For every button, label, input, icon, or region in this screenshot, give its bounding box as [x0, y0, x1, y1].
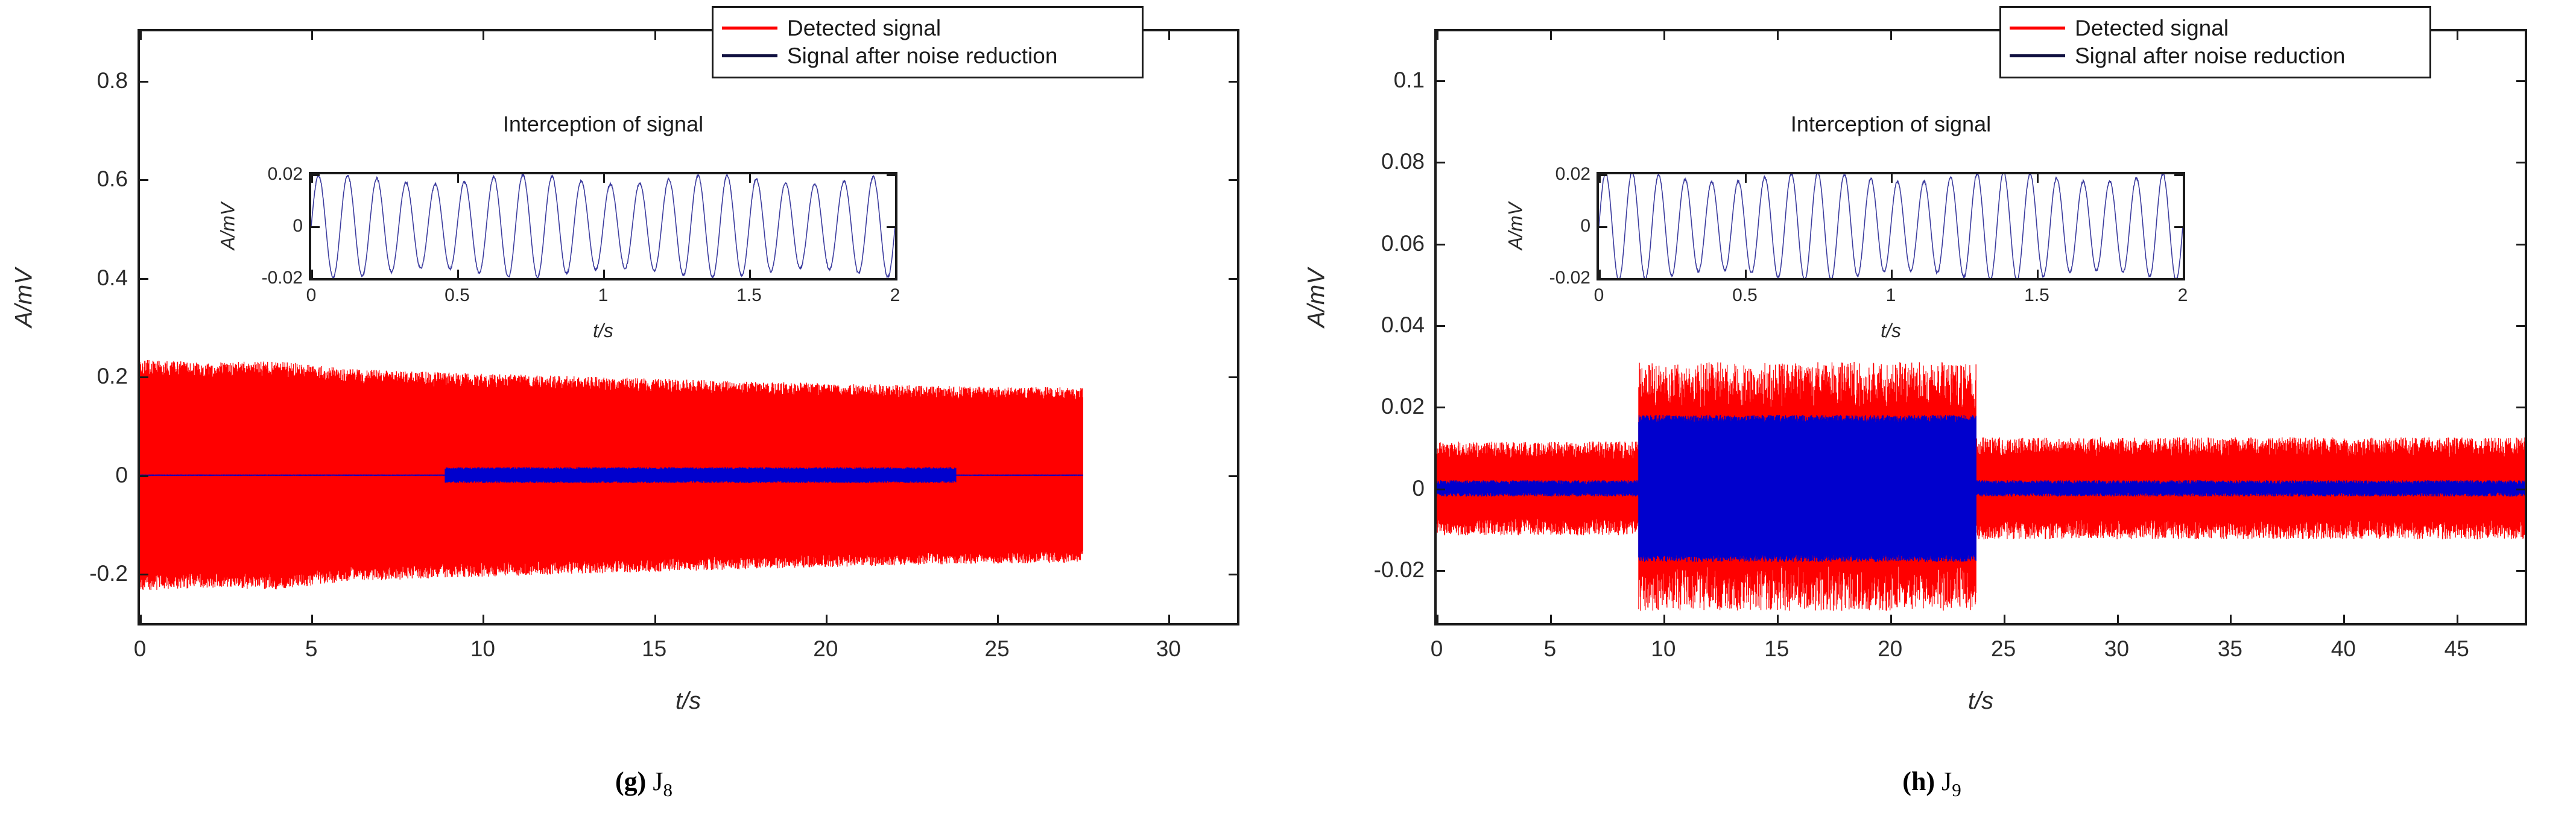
y-tick-label-inset-g: -0.02	[262, 268, 303, 288]
y-tick-right-h	[2516, 162, 2525, 163]
x-tick-g	[483, 615, 484, 623]
x-tick-top-g	[311, 31, 313, 40]
y-tick-right-inset-h	[2174, 174, 2183, 176]
x-tick-top-inset-g	[895, 174, 897, 183]
x-tick-label-h: 10	[1651, 636, 1676, 662]
x-tick-inset-h	[2037, 270, 2039, 278]
x-tick-label-h: 45	[2445, 636, 2469, 662]
x-tick-inset-g	[895, 270, 897, 278]
caption-subscript-g: 8	[663, 779, 672, 800]
x-tick-inset-h	[1745, 270, 1747, 278]
x-tick-g	[140, 615, 142, 623]
x-tick-label-h: 15	[1764, 636, 1789, 662]
x-tick-label-h: 25	[1991, 636, 2016, 662]
y-tick-h	[1437, 489, 1445, 490]
legend-item-denoised-signal-g[interactable]: Signal after noise reduction	[722, 42, 1131, 69]
y-tick-label-g: 0.8	[97, 68, 128, 93]
y-tick-right-g	[1229, 574, 1237, 575]
y-tick-right-inset-g	[887, 174, 895, 176]
y-tick-label-inset-g: 0	[293, 216, 303, 236]
x-tick-h	[2343, 615, 2345, 623]
y-tick-label-inset-h: -0.02	[1549, 268, 1590, 288]
x-tick-top-h	[1777, 31, 1779, 40]
y-tick-right-h	[2516, 325, 2525, 327]
inset-trace-h	[1599, 174, 2183, 278]
y-axis-title-h: A/mV	[1303, 268, 1331, 328]
x-tick-label-inset-g: 0	[306, 285, 317, 306]
x-tick-inset-h	[1891, 270, 1893, 278]
x-tick-label-inset-h: 0.5	[1732, 285, 1758, 306]
x-tick-h	[2230, 615, 2232, 623]
x-tick-g	[997, 615, 999, 623]
legend-swatch-denoised-signal-h	[2010, 54, 2065, 57]
inset-sine-inset-g	[311, 174, 895, 278]
y-tick-label-h: -0.02	[1374, 557, 1425, 583]
inset-plot-area-g	[311, 174, 895, 278]
x-tick-label-h: 0	[1431, 636, 1443, 662]
y-tick-inset-g	[311, 226, 320, 228]
x-tick-h	[1890, 615, 1892, 623]
legend-swatch-denoised-signal-g	[722, 54, 777, 57]
inset-plot-area-h	[1599, 174, 2183, 278]
x-tick-label-g: 25	[985, 636, 1010, 662]
y-tick-right-g	[1229, 278, 1237, 280]
x-tick-label-inset-g: 1.5	[736, 285, 762, 306]
inset-y-axis-title-g: A/mV	[217, 203, 239, 250]
y-tick-h	[1437, 325, 1445, 327]
legend-label-denoised-signal-h: Signal after noise reduction	[2075, 45, 2345, 67]
x-tick-top-inset-g	[603, 174, 605, 183]
y-tick-right-h	[2516, 570, 2525, 572]
y-tick-label-g: 0.2	[97, 364, 128, 389]
y-tick-label-h: 0.04	[1381, 312, 1425, 338]
y-tick-right-inset-g	[887, 278, 895, 280]
x-tick-top-inset-h	[1745, 174, 1747, 183]
y-tick-label-g: 0.4	[97, 265, 128, 291]
caption-prefix-h: (h)	[1902, 767, 1935, 796]
x-tick-top-h	[1550, 31, 1552, 40]
y-tick-h	[1437, 80, 1445, 82]
x-tick-top-h	[1890, 31, 1892, 40]
x-tick-top-h	[2457, 31, 2458, 40]
x-tick-inset-g	[603, 270, 605, 278]
y-tick-label-h: 0.08	[1381, 149, 1425, 174]
y-tick-label-h: 0.06	[1381, 231, 1425, 256]
y-tick-right-h	[2516, 80, 2525, 82]
y-tick-right-inset-h	[2174, 226, 2183, 228]
y-tick-g	[140, 179, 148, 181]
inset-title-h: Interception of signal	[1791, 112, 1991, 137]
x-tick-h	[1437, 615, 1438, 623]
y-tick-inset-g	[311, 174, 320, 176]
x-tick-h	[1550, 615, 1552, 623]
legend-h[interactable]: Detected signal Signal after noise reduc…	[1999, 6, 2431, 78]
y-tick-inset-h	[1599, 226, 1607, 228]
x-tick-top-g	[140, 31, 142, 40]
x-tick-label-g: 30	[1156, 636, 1181, 662]
inset-y-axis-title-h: A/mV	[1505, 203, 1527, 250]
x-tick-label-inset-g: 2	[890, 285, 900, 306]
x-tick-top-g	[1168, 31, 1170, 40]
inset-trace-g	[311, 174, 895, 278]
y-tick-right-inset-g	[887, 226, 895, 228]
x-tick-label-g: 5	[305, 636, 318, 662]
inset-title-g: Interception of signal	[503, 112, 703, 137]
legend-label-detected-signal-g: Detected signal	[787, 17, 941, 39]
y-tick-label-h: 0.02	[1381, 394, 1425, 419]
x-tick-top-inset-h	[2183, 174, 2185, 183]
y-tick-inset-g	[311, 278, 320, 280]
x-tick-label-h: 5	[1544, 636, 1557, 662]
x-tick-label-h: 35	[2218, 636, 2242, 662]
x-tick-label-inset-h: 1	[1886, 285, 1896, 306]
caption-g: (g) J8	[0, 766, 1288, 801]
y-tick-right-g	[1229, 376, 1237, 378]
x-axis-title-h: t/s	[1968, 688, 1993, 715]
y-tick-right-h	[2516, 407, 2525, 408]
y-tick-h	[1437, 162, 1445, 163]
x-tick-label-g: 10	[470, 636, 495, 662]
y-tick-label-g: -0.2	[89, 561, 128, 586]
legend-item-denoised-signal-h[interactable]: Signal after noise reduction	[2010, 42, 2419, 69]
x-tick-top-g	[654, 31, 656, 40]
x-tick-inset-g	[457, 270, 459, 278]
y-tick-right-h	[2516, 489, 2525, 490]
x-tick-inset-h	[2183, 270, 2185, 278]
legend-item-detected-signal-h[interactable]: Detected signal	[2010, 14, 2419, 42]
x-tick-top-h	[1663, 31, 1665, 40]
x-tick-top-inset-h	[2037, 174, 2039, 183]
y-tick-g	[140, 81, 148, 83]
panel-h: A/mV t/s Detected signal Signal after no…	[1288, 0, 2576, 836]
denoised-signal-trace-h	[1437, 415, 2525, 562]
y-tick-h	[1437, 570, 1445, 572]
x-tick-top-inset-g	[749, 174, 751, 183]
inset-x-axis-title-h: t/s	[1881, 320, 1901, 342]
y-tick-h	[1437, 244, 1445, 245]
inset-sine-inset-h	[1599, 174, 2183, 278]
y-tick-g	[140, 278, 148, 280]
inset-x-axis-title-g: t/s	[593, 320, 613, 342]
x-tick-label-inset-h: 1.5	[2024, 285, 2049, 306]
legend-label-detected-signal-h: Detected signal	[2075, 17, 2229, 39]
legend-swatch-detected-signal-g	[722, 27, 777, 30]
x-tick-h	[2004, 615, 2005, 623]
legend-item-detected-signal-g[interactable]: Detected signal	[722, 14, 1131, 42]
caption-subscript-h: 9	[1952, 779, 1961, 800]
legend-g[interactable]: Detected signal Signal after noise reduc…	[712, 6, 1144, 78]
y-tick-right-g	[1229, 179, 1237, 181]
y-tick-label-inset-g: 0.02	[268, 164, 303, 185]
x-tick-g	[1168, 615, 1170, 623]
inset-axes-box-g	[309, 172, 897, 280]
x-tick-inset-g	[311, 270, 313, 278]
x-tick-top-g	[483, 31, 484, 40]
panel-g: A/mV t/s Detected signal Signal after no…	[0, 0, 1288, 836]
x-tick-g	[654, 615, 656, 623]
y-tick-right-h	[2516, 244, 2525, 245]
x-tick-h	[1777, 615, 1779, 623]
x-tick-top-inset-h	[1891, 174, 1893, 183]
y-tick-label-g: 0.6	[97, 166, 128, 192]
x-tick-label-inset-g: 0.5	[445, 285, 470, 306]
y-tick-label-inset-h: 0	[1580, 216, 1590, 236]
x-tick-inset-g	[749, 270, 751, 278]
x-tick-label-h: 30	[2104, 636, 2129, 662]
x-tick-label-g: 0	[134, 636, 147, 662]
x-tick-label-inset-g: 1	[598, 285, 609, 306]
x-tick-label-inset-h: 2	[2178, 285, 2188, 306]
x-tick-g	[826, 615, 828, 623]
legend-swatch-detected-signal-h	[2010, 27, 2065, 30]
caption-symbol-g: J	[653, 767, 663, 796]
x-axis-title-g: t/s	[676, 688, 701, 715]
y-tick-right-inset-h	[2174, 278, 2183, 280]
legend-label-denoised-signal-g: Signal after noise reduction	[787, 45, 1057, 67]
inset-axes-box-h	[1597, 172, 2185, 280]
y-tick-right-g	[1229, 81, 1237, 83]
y-tick-inset-h	[1599, 174, 1607, 176]
y-tick-label-inset-h: 0.02	[1555, 164, 1590, 185]
y-tick-g	[140, 376, 148, 378]
x-tick-label-h: 40	[2331, 636, 2356, 662]
figure-root: A/mV t/s Detected signal Signal after no…	[0, 0, 2576, 836]
x-tick-label-g: 20	[813, 636, 838, 662]
y-tick-label-h: 0	[1412, 476, 1425, 501]
caption-h: (h) J9	[1288, 766, 2576, 801]
x-tick-g	[311, 615, 313, 623]
x-tick-inset-h	[1599, 270, 1601, 278]
y-tick-right-g	[1229, 475, 1237, 477]
x-tick-label-inset-h: 0	[1594, 285, 1604, 306]
x-tick-top-h	[1437, 31, 1438, 40]
x-tick-h	[2117, 615, 2119, 623]
x-tick-h	[2457, 615, 2458, 623]
y-tick-label-h: 0.1	[1394, 68, 1425, 93]
y-tick-label-g: 0	[115, 463, 128, 488]
y-tick-h	[1437, 407, 1445, 408]
x-tick-h	[1663, 615, 1665, 623]
x-tick-label-h: 20	[1878, 636, 1902, 662]
y-axis-title-g: A/mV	[11, 268, 38, 328]
caption-prefix-g: (g)	[615, 767, 646, 796]
x-tick-label-g: 15	[642, 636, 666, 662]
y-tick-inset-h	[1599, 278, 1607, 280]
y-tick-g	[140, 574, 148, 575]
y-tick-g	[140, 475, 148, 477]
caption-symbol-h: J	[1941, 767, 1952, 796]
x-tick-top-inset-g	[457, 174, 459, 183]
